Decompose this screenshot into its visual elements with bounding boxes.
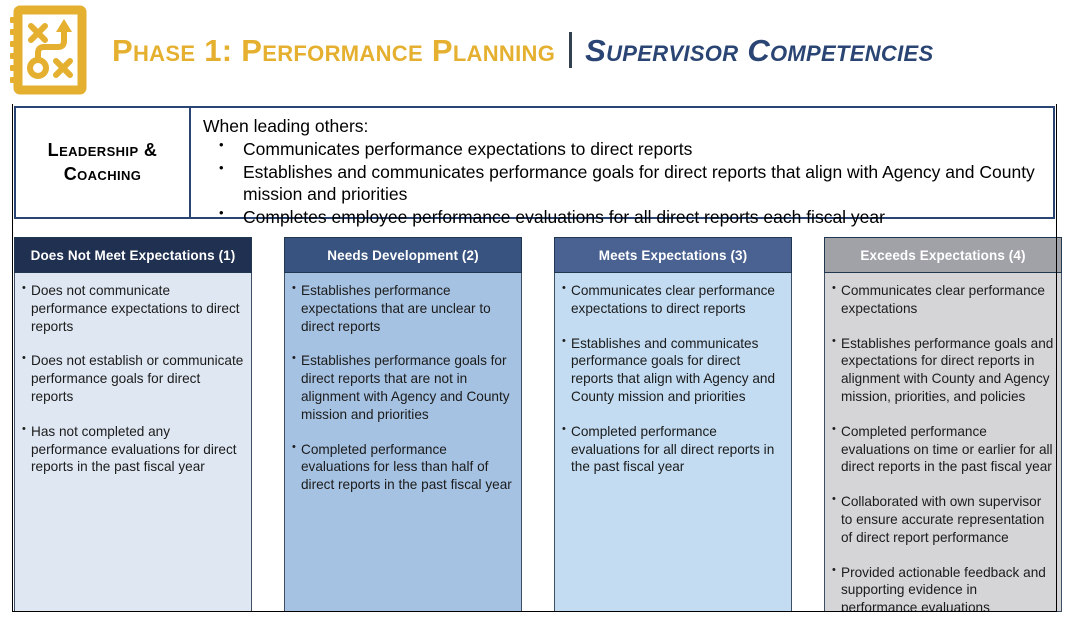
rating-bullet: Completed performance evaluations for le… xyxy=(292,441,514,494)
rating-header-3: Meets Expectations (3) xyxy=(554,237,792,273)
rating-bullet-list-3: Communicates clear performance expectati… xyxy=(562,282,784,476)
competency-bullet-list: Communicates performance expectations to… xyxy=(203,138,1043,228)
strategy-playbook-icon xyxy=(8,5,90,95)
title-competency: Supervisor Competencies xyxy=(585,35,933,66)
competency-name-line2: Coaching xyxy=(64,163,142,186)
rating-bullet: Has not completed any performance evalua… xyxy=(22,423,244,476)
title-phase: Phase 1: Performance Planning xyxy=(112,35,555,66)
rating-body-1: Does not communicate performance expecta… xyxy=(14,273,252,612)
rating-header-1: Does Not Meet Expectations (1) xyxy=(14,237,252,273)
page-title: Phase 1: Performance Planning Supervisor… xyxy=(112,32,933,68)
competency-bullet: Communicates performance expectations to… xyxy=(203,138,1043,160)
rating-bullet: Communicates clear performance expectati… xyxy=(562,282,784,318)
rating-bullet: Establishes performance goals for direct… xyxy=(292,352,514,423)
rating-columns: Does Not Meet Expectations (1) Does not … xyxy=(14,237,1055,612)
rating-column-1: Does Not Meet Expectations (1) Does not … xyxy=(14,237,252,612)
rating-bullet: Does not communicate performance expecta… xyxy=(22,282,244,335)
rating-header-2: Needs Development (2) xyxy=(284,237,522,273)
rating-bullet-list-1: Does not communicate performance expecta… xyxy=(22,282,244,476)
rating-bullet: Completed performance evaluations on tim… xyxy=(832,423,1054,476)
rating-bullet: Completed performance evaluations for al… xyxy=(562,423,784,476)
competency-bullet: Completes employee performance evaluatio… xyxy=(203,206,1043,228)
rating-bullet-list-4: Communicates clear performance expectati… xyxy=(832,282,1054,612)
rating-column-3: Meets Expectations (3) Communicates clea… xyxy=(554,237,792,612)
rating-bullet: Communicates clear performance expectati… xyxy=(832,282,1054,318)
rating-bullet: Establishes and communicates performance… xyxy=(562,335,784,406)
competency-description-box: Leadership & Coaching When leading other… xyxy=(14,106,1055,219)
competency-body: When leading others: Communicates perfor… xyxy=(191,108,1053,217)
competency-intro: When leading others: xyxy=(203,115,1043,137)
rating-bullet: Does not establish or communicate perfor… xyxy=(22,352,244,405)
rating-body-4: Communicates clear performance expectati… xyxy=(824,273,1062,612)
rating-bullet: Provided actionable feedback and support… xyxy=(832,564,1054,612)
rating-body-2: Establishes performance expectations tha… xyxy=(284,273,522,612)
rating-bullet: Establishes performance expectations tha… xyxy=(292,282,514,335)
rating-bullet: Establishes performance goals and expect… xyxy=(832,335,1054,406)
title-separator xyxy=(569,32,572,68)
rating-body-3: Communicates clear performance expectati… xyxy=(554,273,792,612)
competency-name: Leadership & Coaching xyxy=(16,108,191,217)
competency-bullet: Establishes and communicates performance… xyxy=(203,161,1043,206)
rating-bullet-list-2: Establishes performance expectations tha… xyxy=(292,282,514,494)
page-header: Phase 1: Performance Planning Supervisor… xyxy=(0,0,1069,100)
rating-column-2: Needs Development (2) Establishes perfor… xyxy=(284,237,522,612)
rating-header-4: Exceeds Expectations (4) xyxy=(824,237,1062,273)
rating-bullet: Collaborated with own supervisor to ensu… xyxy=(832,493,1054,546)
competency-name-line1: Leadership & xyxy=(48,139,158,162)
rating-column-4: Exceeds Expectations (4) Communicates cl… xyxy=(824,237,1062,612)
